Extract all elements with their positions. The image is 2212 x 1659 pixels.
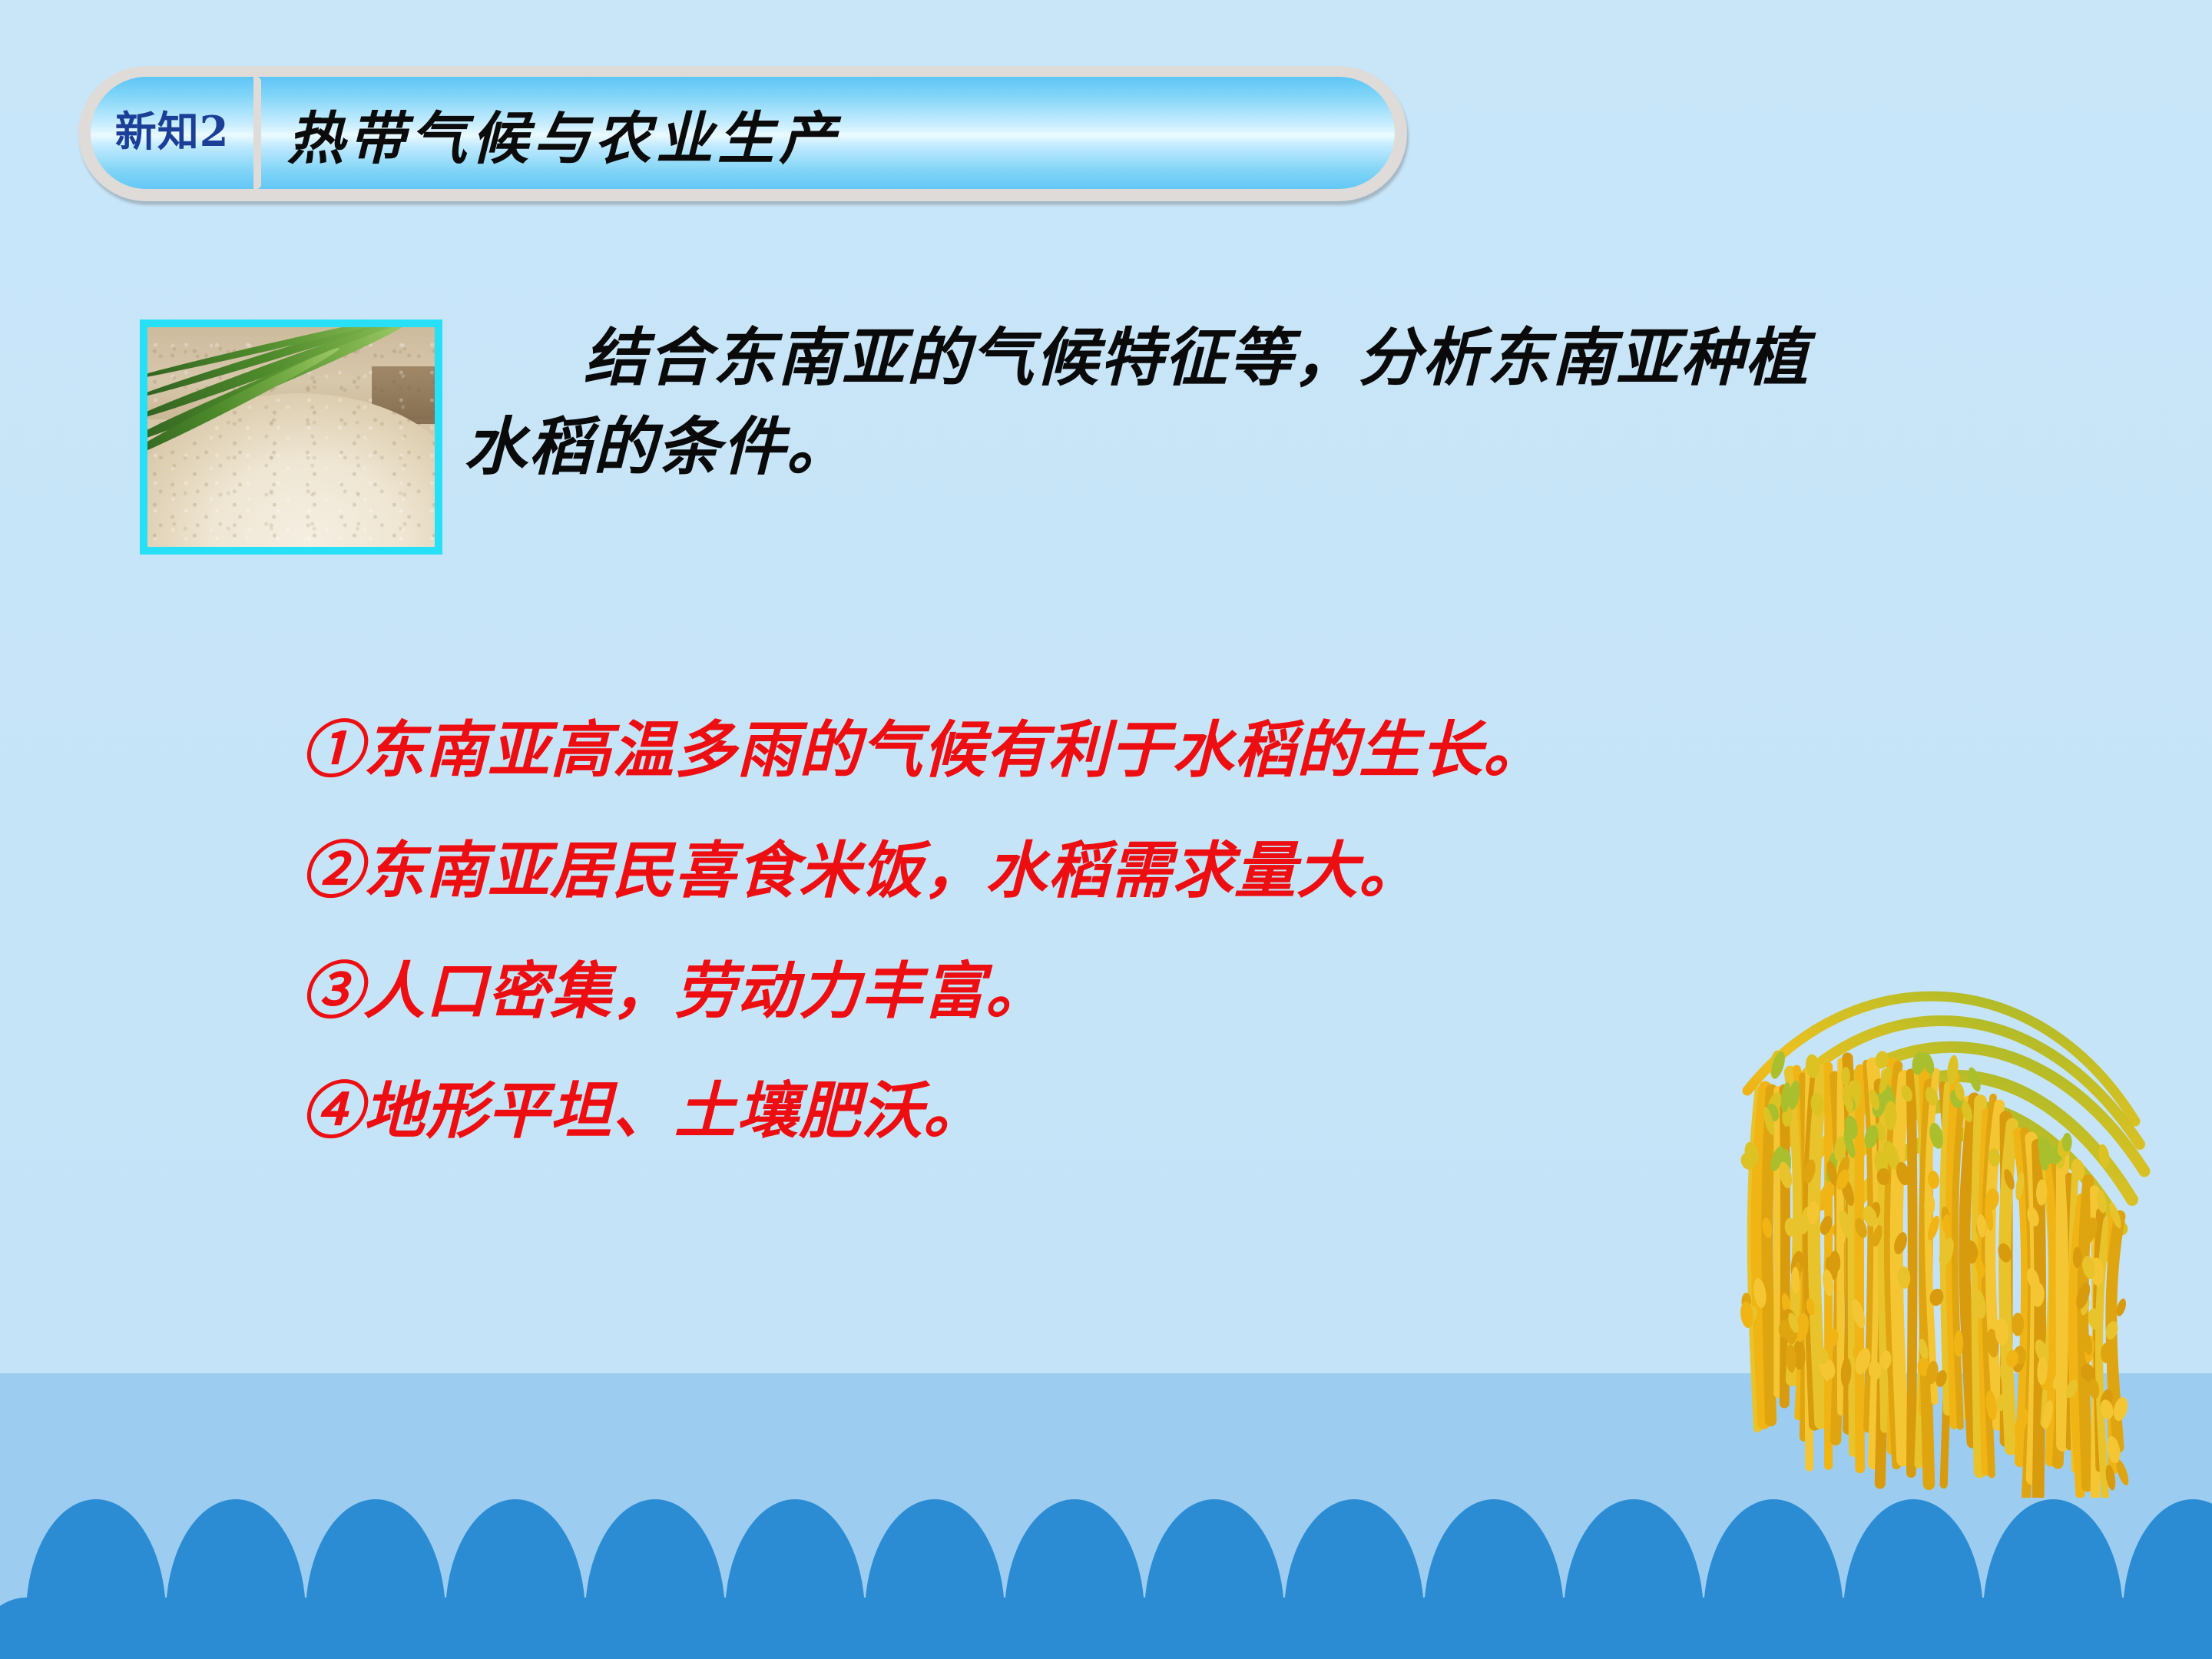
answer-item-1: ①东南亚高温多雨的气候有利于水稻的生长。: [301, 690, 1914, 810]
rice-grain: [1823, 1255, 1839, 1281]
rice-grain: [1821, 1269, 1835, 1297]
rice-grain: [1860, 1204, 1879, 1228]
rice-grain: [1780, 1308, 1796, 1330]
rice-grain: [1892, 1230, 1909, 1256]
rice-grain: [1917, 1338, 1929, 1362]
rice-grain: [1740, 1301, 1755, 1329]
rice-grain: [1959, 1098, 1975, 1124]
rice-grain: [2005, 1349, 2019, 1368]
rice-grain: [1871, 1224, 1884, 1248]
rice-grain: [1942, 1214, 1952, 1233]
rice-grain: [1945, 1055, 1959, 1085]
rice-grain: [1849, 1298, 1868, 1330]
rice-grain: [1852, 1339, 1864, 1359]
rice-grain: [2081, 1331, 2094, 1356]
rice-grain: [1741, 1293, 1751, 1310]
rice-grain: [1789, 1250, 1805, 1279]
rice-grain: [1953, 1081, 1966, 1102]
rice-grain: [1928, 1121, 1945, 1150]
rice-grain: [2014, 1171, 2025, 1200]
page-title: 热带气候与农业生产: [287, 66, 840, 201]
rice-grain: [1791, 1261, 1803, 1291]
rice-grain: [2095, 1189, 2108, 1214]
rice-grain: [1919, 1050, 1936, 1075]
slide-canvas: 新知2 热带气候与农业生产 结合东南亚的气候特征等，分析东南亚种植 水稻的条件。…: [0, 0, 2212, 1659]
rice-grain: [1835, 1224, 1846, 1250]
banner-badge: 新知2: [91, 77, 261, 189]
prompt-line-1-text: 结合东南亚的气候特征等，分析东南亚种植: [584, 321, 1810, 395]
rice-grain: [2053, 1145, 2065, 1169]
rice-grain: [1791, 1267, 1800, 1294]
rice-grain: [1923, 1085, 1940, 1108]
rice-grain: [2081, 1255, 2098, 1280]
rice-grain: [1780, 1293, 1792, 1316]
rice-grain: [1940, 1206, 1952, 1230]
rice-grain-strand: [1966, 1099, 1968, 1416]
rice-grain: [1836, 1209, 1856, 1240]
rice-grain: [1966, 1066, 1983, 1093]
rice-grain: [2011, 1351, 2026, 1374]
answer-item-4: ④地形平坦、土壤肥沃。: [301, 1051, 1914, 1171]
rice-grain: [2081, 1216, 2101, 1246]
prompt-line-1: 结合东南亚的气候特征等，分析东南亚种植: [464, 313, 2046, 402]
rice-grain: [1976, 1219, 1986, 1237]
rice-grain: [1853, 1346, 1873, 1376]
rice-grain: [1785, 1344, 1796, 1373]
rice-grain: [1816, 1347, 1829, 1364]
rice-grain: [1742, 1304, 1759, 1326]
rice-grain: [1984, 1187, 2000, 1211]
rice-grain: [2025, 1206, 2041, 1228]
rice-grain: [1928, 1287, 1945, 1307]
rice-grain: [2104, 1320, 2120, 1341]
rice-grain: [1830, 1250, 1841, 1273]
rice-grain: [1994, 1318, 2009, 1346]
bottom-decorative-band: [0, 1373, 2212, 1659]
rice-grain: [2038, 1146, 2050, 1172]
rice-grain: [1793, 1340, 1806, 1370]
rice-grain: [2079, 1296, 2091, 1316]
rice-grain: [1953, 1330, 1963, 1357]
prompt-paragraph: 结合东南亚的气候特征等，分析东南亚种植 水稻的条件。: [464, 313, 2046, 492]
rice-grain: [1964, 1240, 1979, 1264]
rice-grain: [2100, 1342, 2114, 1363]
rice-grain: [1785, 1316, 1798, 1345]
rice-grain: [1974, 1257, 1986, 1279]
rice-photo-thumbnail: [140, 320, 442, 555]
rice-grain: [1896, 1266, 1911, 1290]
rice-grain: [1924, 1194, 1936, 1217]
rice-grain: [1879, 1350, 1892, 1370]
rice-grain: [1983, 1203, 1995, 1232]
rice-grain: [1949, 1088, 1965, 1110]
rice-grain: [1853, 1217, 1869, 1240]
rice-grain: [1806, 1200, 1820, 1225]
rice-grain: [2036, 1179, 2048, 1206]
rice-grain: [1798, 1206, 1813, 1235]
title-banner: 新知2 热带气候与农业生产: [78, 66, 1407, 201]
rice-grain-strand: [1950, 1076, 1955, 1425]
rice-grain: [1752, 1277, 1768, 1309]
rice-grain: [2084, 1336, 2096, 1364]
rice-grain: [2056, 1136, 2073, 1158]
rice-grain: [2073, 1247, 2082, 1268]
answer-item-2: ②东南亚居民喜食米饭，水稻需求量大。: [301, 810, 1914, 931]
answer-list: ①东南亚高温多雨的气候有利于水稻的生长。 ②东南亚居民喜食米饭，水稻需求量大。 …: [301, 690, 1914, 1171]
rice-grain: [2074, 1281, 2093, 1311]
rice-grain: [1927, 1171, 1940, 1190]
rice-grain: [2012, 1313, 2024, 1336]
rice-grain: [2035, 1134, 2057, 1166]
rice-grain: [1970, 1288, 1988, 1320]
rice-grain: [2048, 1143, 2065, 1166]
rice-grain: [1988, 1147, 2002, 1167]
rice-grain: [2114, 1297, 2128, 1317]
rice-grain: [2031, 1283, 2045, 1307]
rice-grain-strand: [1928, 1071, 1936, 1401]
rice-grain: [1793, 1313, 1811, 1343]
rice-grain: [2097, 1144, 2111, 1170]
rice-grain: [1805, 1297, 1816, 1316]
rice-grain: [2107, 1200, 2123, 1230]
rice-grain: [2089, 1257, 2104, 1286]
rice-grain: [2032, 1338, 2051, 1366]
rice-grain: [1818, 1214, 1834, 1237]
rice-grain: [2062, 1133, 2072, 1152]
rice-grain: [1778, 1320, 1790, 1338]
rice-grain: [1839, 1177, 1856, 1207]
rice-grain: [2013, 1346, 2027, 1366]
rice-grain: [1926, 1214, 1942, 1241]
rice-grain-strand: [1923, 1063, 1927, 1410]
rice-grain: [2025, 1267, 2041, 1291]
rice-grain: [1985, 1328, 2000, 1358]
prompt-line-2: 水稻的条件。: [464, 402, 2046, 492]
rice-grain: [1761, 1217, 1773, 1240]
banner-badge-label: 新知2: [115, 111, 230, 152]
rice-grain-strand: [1945, 1087, 1949, 1411]
rice-grain: [1784, 1217, 1797, 1237]
rice-grain: [1826, 1327, 1840, 1348]
rice-grain: [1995, 1242, 2013, 1264]
rice-grain: [1976, 1214, 1986, 1237]
rice-grain: [2070, 1157, 2087, 1181]
answer-item-3: ③人口密集，劳动力丰富。: [301, 931, 1914, 1051]
rice-grain: [2002, 1168, 2016, 1191]
rice-grain: [1995, 1320, 2010, 1343]
rice-grain: [2087, 1307, 2102, 1330]
rice-grain: [1869, 1201, 1881, 1220]
rice-grain: [1823, 1257, 1835, 1285]
rice-grain: [1786, 1312, 1801, 1334]
rice-grain: [1936, 1236, 1956, 1268]
